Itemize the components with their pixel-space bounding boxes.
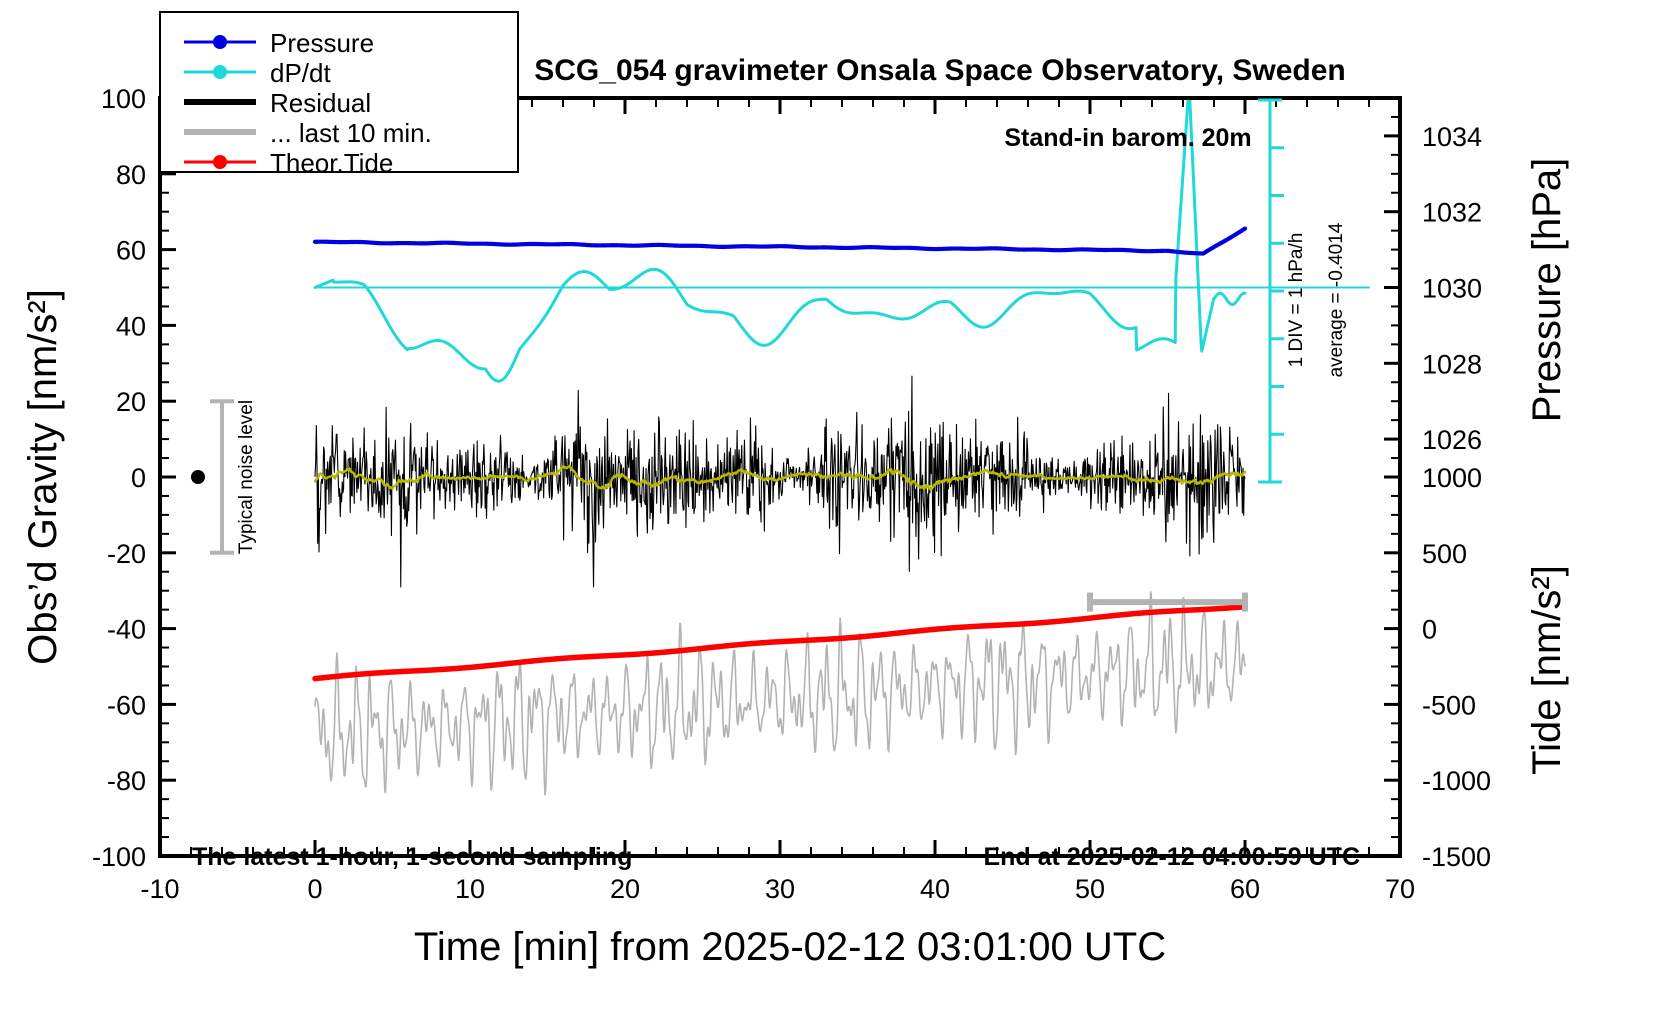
annotation-noise-level: Typical noise level [236,400,257,554]
tide-axis-title: Tide [nm/s²] [1525,565,1569,775]
pressure-tick-label: 1028 [1422,349,1482,379]
legend-label-3: ... last 10 min. [270,118,432,148]
pressure-tick-label: 1026 [1422,425,1482,455]
x-tick-label: -10 [140,874,179,904]
y-tick-label: 100 [101,84,146,114]
noise-level-dot [191,470,205,484]
y-tick-label: -80 [107,766,146,796]
x-tick-label: 60 [1230,874,1260,904]
y-tick-label: 0 [131,463,146,493]
pressure-tick-label: 1030 [1422,274,1482,304]
annotation-footer-right: End at 2025-02-12 04:00:59 UTC [983,843,1360,871]
x-tick-label: 40 [920,874,950,904]
pressure-axis-title: Pressure [hPa] [1525,158,1569,423]
x-tick-label: 50 [1075,874,1105,904]
legend-label-4: Theor.Tide [270,148,393,178]
annotation-footer-left: The latest 1-hour, 1-second sampling [192,843,632,871]
y-tick-label: -20 [107,539,146,569]
x-tick-label: 10 [455,874,485,904]
y-tick-label: 20 [116,387,146,417]
annotation-div-scale: 1 DIV = 1 hPa/h [1286,233,1307,368]
tide-tick-label: 0 [1422,615,1437,645]
pressure-tick-label: 1034 [1422,122,1482,152]
legend-label-0: Pressure [270,28,374,58]
y-tick-label: -60 [107,690,146,720]
y-tick-label: -100 [92,842,146,872]
legend-label-2: Residual [270,88,371,118]
y-tick-label: 40 [116,311,146,341]
legend-marker-0 [213,35,227,49]
x-tick-label: 70 [1385,874,1415,904]
legend-label-1: dP/dt [270,58,331,88]
tide-tick-label: 1000 [1422,463,1482,493]
chart-title: SCG_054 gravimeter Onsala Space Observat… [534,54,1346,87]
tide-tick-label: -500 [1422,690,1476,720]
x-tick-label: 30 [765,874,795,904]
y-tick-label: 60 [116,236,146,266]
y-tick-label: -40 [107,615,146,645]
tide-tick-label: -1000 [1422,766,1491,796]
tide-tick-label: -1500 [1422,842,1491,872]
legend-marker-4 [213,155,227,169]
gravimeter-chart: -10010203040506070-100-80-60-40-20020406… [0,0,1660,1020]
y-axis-title: Obs’d Gravity [nm/s²] [21,289,65,665]
x-tick-label: 0 [307,874,322,904]
annotation-stand-in-barom: Stand-in barom. 20m [1004,124,1251,152]
tide-tick-label: 500 [1422,539,1467,569]
x-tick-label: 20 [610,874,640,904]
annotation-average: average = -0.4014 [1326,222,1347,377]
x-axis-title: Time [min] from 2025-02-12 03:01:00 UTC [414,925,1166,969]
pressure-tick-label: 1032 [1422,198,1482,228]
legend-marker-1 [213,65,227,79]
chart-canvas: -10010203040506070-100-80-60-40-20020406… [0,0,1660,1020]
y-tick-label: 80 [116,160,146,190]
